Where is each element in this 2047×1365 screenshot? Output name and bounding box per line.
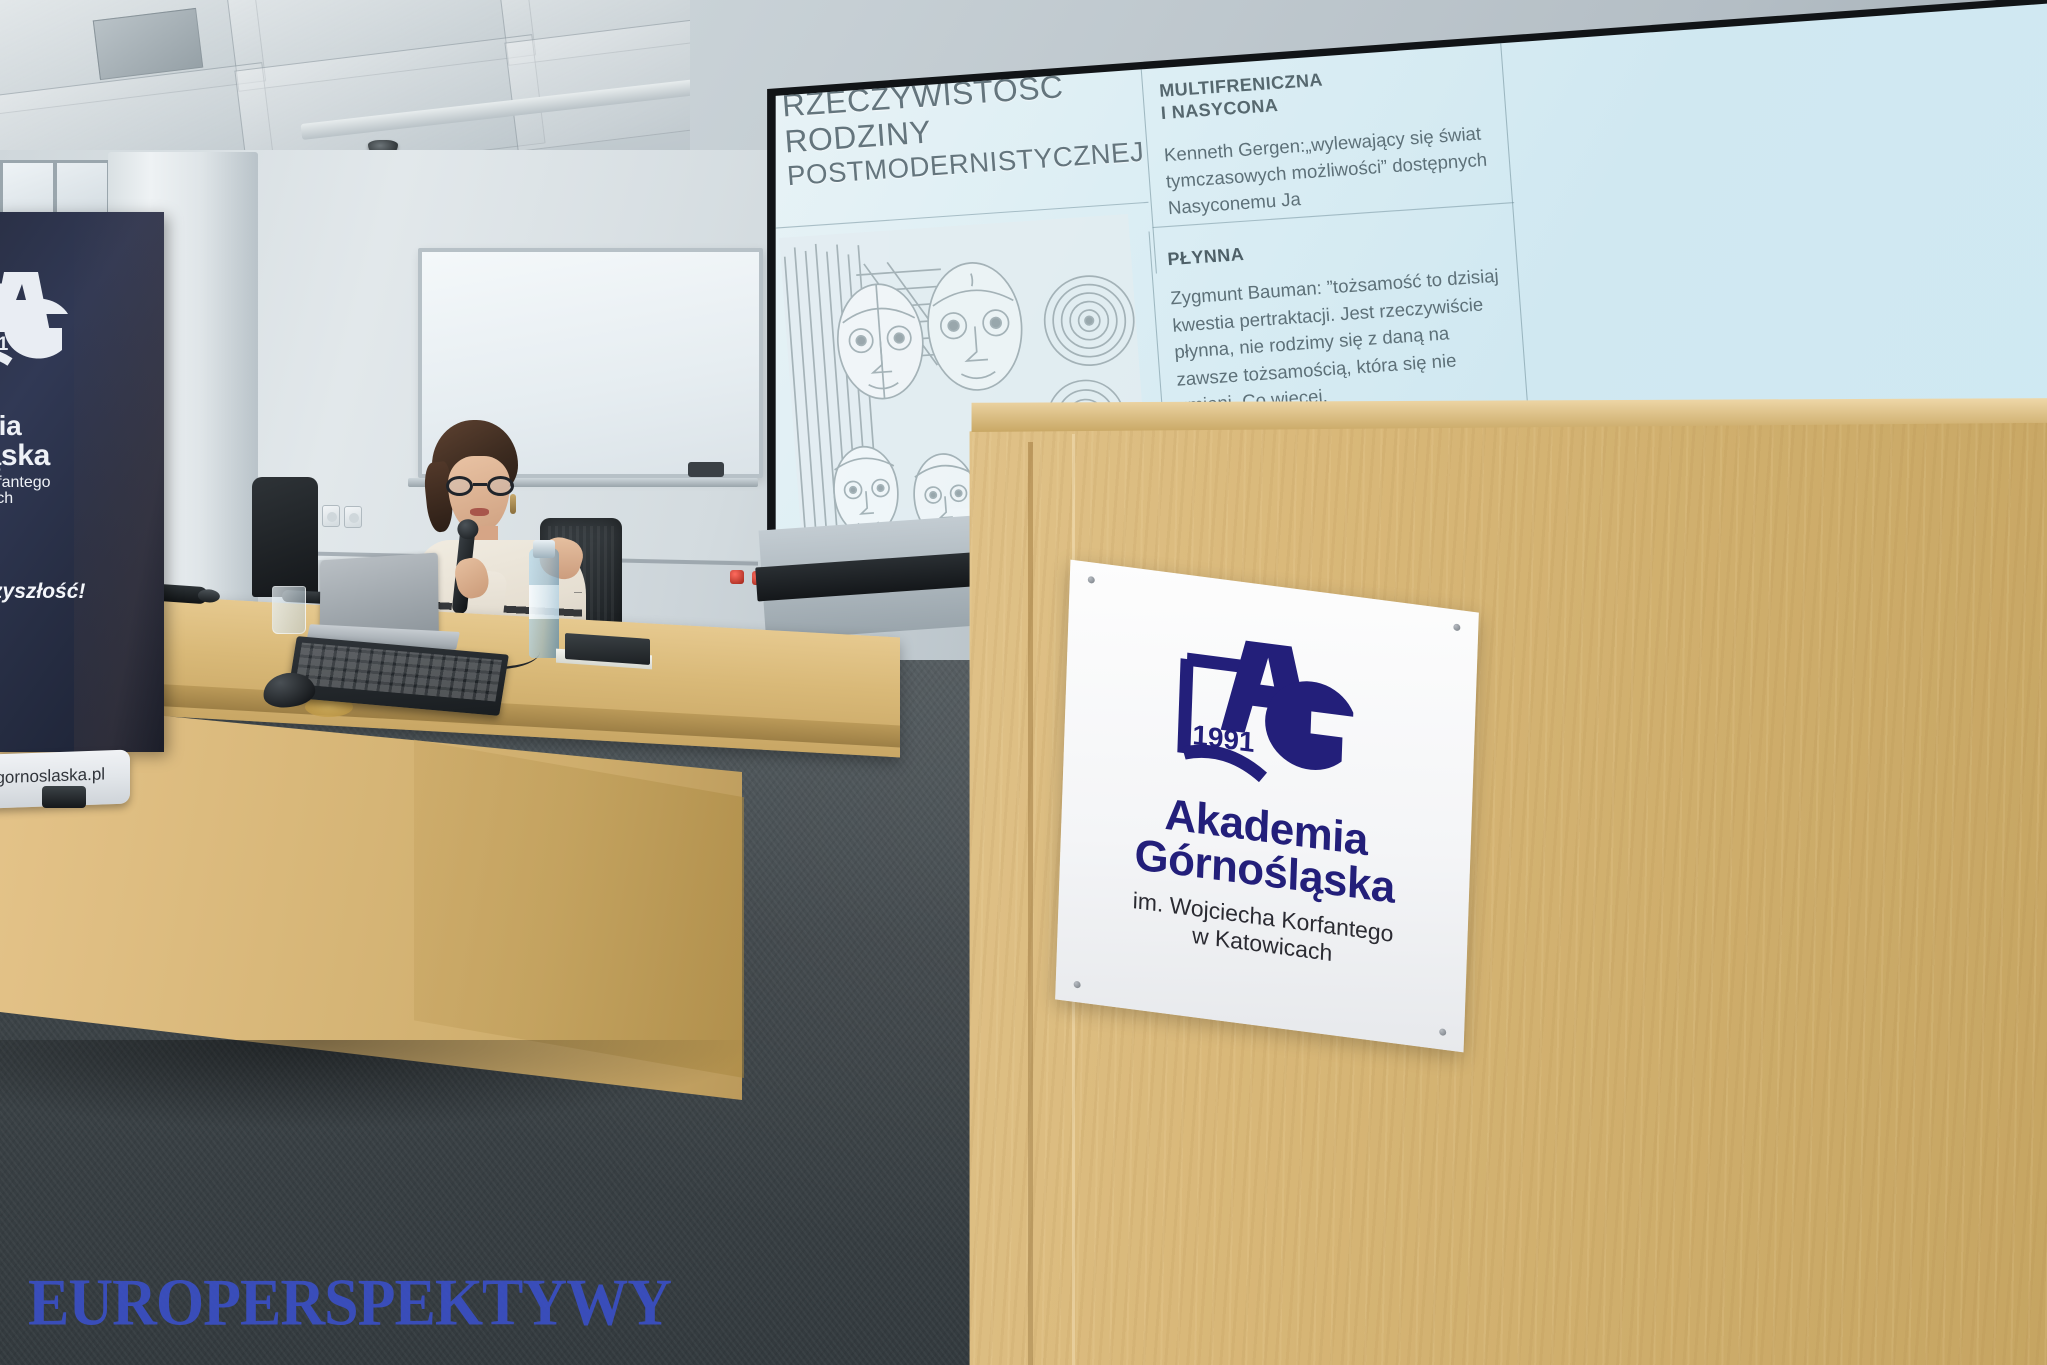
rollup-banner: 1991 demia ośląska cha Korfantego atowic… (0, 212, 164, 752)
banner-name-line2: ośląska (0, 441, 142, 472)
multifreniczna-heading-line1: MULTIFRENICZNA (1159, 70, 1324, 101)
drinking-glass[interactable] (272, 586, 306, 634)
ag-logo-icon: 1991 (1163, 619, 1378, 814)
earring (510, 494, 516, 514)
mouth (470, 508, 489, 516)
slide-column-multifreniczna: MULTIFRENICZNA I NASYCONA Kenneth Gergen… (1159, 57, 1497, 222)
bottle-label (529, 585, 559, 619)
photo-watermark: EUROPERSPEKTYWY (28, 1265, 671, 1342)
plynna-body: Zygmunt Bauman: ”tożsamość to dzisiaj kw… (1170, 262, 1518, 420)
svg-text:1991: 1991 (0, 334, 9, 355)
banner-sub-line1: cha Korfantego (0, 475, 142, 491)
banner-slogan: się przyszłość! (0, 580, 156, 604)
podium-edge (1028, 442, 1033, 1365)
photograph-scene: RZECZYWISTOŚĆ RODZINY POSTMODERNISTYCZNE… (0, 0, 2047, 1365)
power-socket (322, 505, 340, 527)
banner-logo-ag-icon: 1991 (0, 262, 76, 382)
emergency-button[interactable] (730, 570, 744, 584)
plynna-heading: PŁYNNA (1167, 226, 1507, 271)
slide-column-plynna: PŁYNNA Zygmunt Bauman: ”tożsamość to dzi… (1167, 226, 1518, 420)
bottle-cap (533, 540, 555, 558)
eyeglasses-icon (446, 476, 514, 496)
banner-name: demia ośląska cha Korfantego atowicach (0, 412, 142, 508)
podium-sign-content: 1991 Akademia Górnośląska im. Wojciecha … (1055, 560, 1479, 1053)
power-socket (344, 506, 362, 528)
banner-clip (42, 786, 86, 808)
whiteboard-marker (688, 462, 724, 477)
office-chair (252, 477, 318, 597)
desk-shadow (0, 1040, 760, 1130)
banner-sub-line2: atowicach (0, 491, 142, 507)
banner-name-line1: demia (0, 412, 142, 441)
